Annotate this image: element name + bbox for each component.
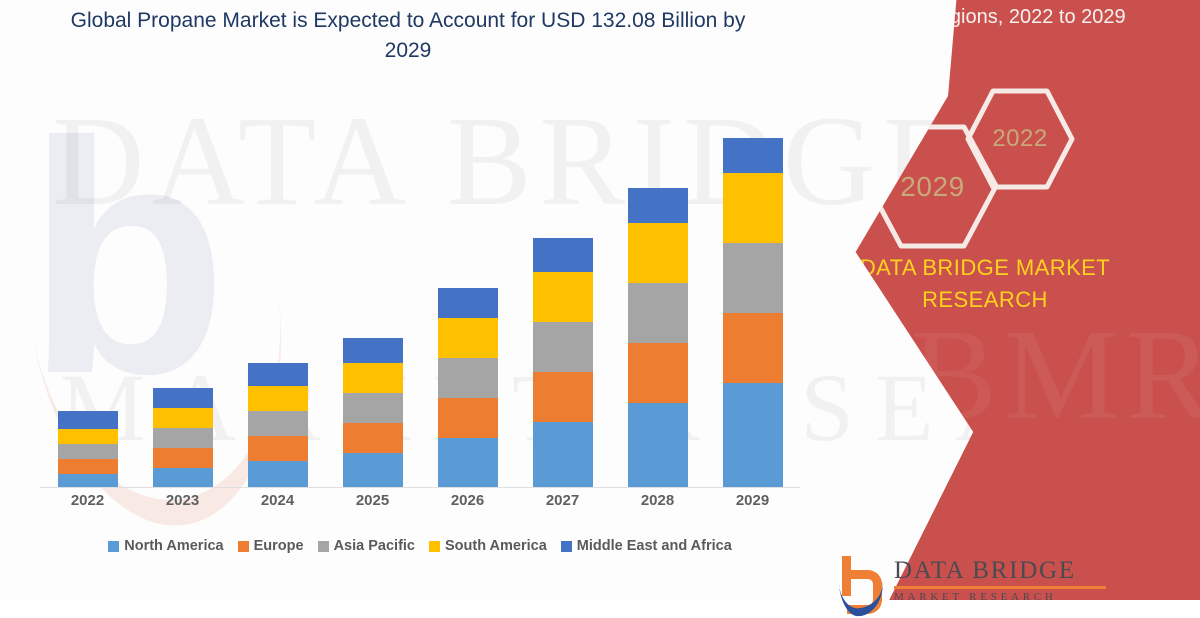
bar-segment	[343, 453, 403, 488]
bar-segment	[628, 403, 688, 488]
bar-2029	[723, 100, 783, 488]
bar-segment	[153, 388, 213, 408]
logo-b-icon	[838, 556, 882, 600]
bar-segment	[533, 372, 593, 422]
bar-segment	[628, 343, 688, 403]
hexagon-2029-label: 2029	[865, 124, 1000, 249]
bar-2023	[153, 100, 213, 488]
bar-segment	[723, 243, 783, 313]
chart-legend: North AmericaEuropeAsia PacificSouth Ame…	[40, 538, 800, 554]
bar-segment	[723, 313, 783, 383]
bar-segment	[628, 283, 688, 343]
bar-segment	[438, 358, 498, 398]
bar-segment	[153, 448, 213, 468]
infographic-root: b DATA BRIDGE MARKET RESEARCH Global Pro…	[0, 0, 1200, 600]
brand-name: DATA BRIDGE MARKET RESEARCH	[780, 252, 1190, 316]
x-axis-label-2026: 2026	[438, 492, 498, 509]
legend-label: Asia Pacific	[334, 538, 415, 554]
brand-name-line-2: RESEARCH	[780, 284, 1190, 316]
x-axis-label-2027: 2027	[533, 492, 593, 509]
company-logo: DATA BRIDGE MARKET RESEARCH	[838, 556, 1198, 600]
bar-segment	[438, 288, 498, 318]
bar-segment	[58, 459, 118, 474]
bar-segment	[723, 138, 783, 173]
bar-segment	[248, 461, 308, 488]
legend-swatch-icon	[108, 541, 119, 552]
chart-title: Global Propane Market is Expected to Acc…	[70, 6, 746, 66]
bar-segment	[248, 436, 308, 461]
bar-group	[40, 100, 800, 488]
logo-swoosh-icon	[839, 581, 885, 618]
hexagon-2029: 2029	[865, 124, 1000, 249]
plot-area	[40, 100, 800, 488]
legend-swatch-icon	[429, 541, 440, 552]
logo-title: DATA BRIDGE	[894, 558, 1106, 584]
bar-2024	[248, 100, 308, 488]
bar-segment	[248, 363, 308, 386]
legend-item-asia-pacific[interactable]: Asia Pacific	[318, 538, 415, 554]
bar-segment	[628, 188, 688, 223]
bar-segment	[343, 338, 403, 363]
x-axis-label-2025: 2025	[343, 492, 403, 509]
bar-segment	[438, 398, 498, 438]
bar-segment	[723, 383, 783, 488]
bar-segment	[58, 474, 118, 488]
bar-segment	[343, 393, 403, 423]
bar-segment	[533, 422, 593, 488]
bar-segment	[343, 423, 403, 453]
bar-segment	[248, 411, 308, 436]
hexagon-group: 2022 2029	[780, 88, 1200, 258]
x-axis-labels: 20222023202420252026202720282029	[40, 492, 800, 509]
bar-segment	[438, 438, 498, 488]
brand-name-line-1: DATA BRIDGE MARKET	[780, 252, 1190, 284]
legend-swatch-icon	[318, 541, 329, 552]
legend-label: Europe	[254, 538, 304, 554]
legend-label: South America	[445, 538, 547, 554]
x-axis-label-2024: 2024	[248, 492, 308, 509]
x-axis-label-2028: 2028	[628, 492, 688, 509]
brand-ghost-watermark: DBMR	[810, 300, 1200, 450]
legend-item-middle-east-and-africa[interactable]: Middle East and Africa	[561, 538, 732, 554]
bar-segment	[533, 238, 593, 272]
legend-swatch-icon	[561, 541, 572, 552]
logo-text: DATA BRIDGE MARKET RESEARCH	[894, 556, 1106, 603]
x-axis-label-2029: 2029	[723, 492, 783, 509]
bar-segment	[533, 272, 593, 322]
legend-item-south-america[interactable]: South America	[429, 538, 547, 554]
bar-segment	[248, 386, 308, 411]
bar-segment	[153, 408, 213, 428]
x-axis-line	[40, 487, 800, 488]
bar-segment	[723, 173, 783, 243]
bar-2028	[628, 100, 688, 488]
x-axis-label-2022: 2022	[58, 492, 118, 509]
bar-2027	[533, 100, 593, 488]
bar-segment	[58, 411, 118, 429]
bar-segment	[343, 363, 403, 393]
bar-2022	[58, 100, 118, 488]
logo-subtitle: MARKET RESEARCH	[894, 591, 1106, 603]
bar-segment	[628, 223, 688, 283]
brand-subtitle: Regions, 2022 to 2029	[850, 6, 1200, 29]
legend-label: North America	[124, 538, 223, 554]
x-axis-label-2023: 2023	[153, 492, 213, 509]
bar-segment	[58, 444, 118, 459]
bar-2026	[438, 100, 498, 488]
legend-item-north-america[interactable]: North America	[108, 538, 223, 554]
legend-label: Middle East and Africa	[577, 538, 732, 554]
bar-segment	[58, 429, 118, 444]
bar-segment	[153, 428, 213, 448]
bar-segment	[153, 468, 213, 488]
bar-segment	[533, 322, 593, 372]
brand-panel: DBMR Regions, 2022 to 2029 2022 2029 DAT…	[780, 0, 1200, 600]
logo-divider	[894, 586, 1106, 589]
legend-item-europe[interactable]: Europe	[238, 538, 304, 554]
legend-swatch-icon	[238, 541, 249, 552]
bar-segment	[438, 318, 498, 358]
bar-2025	[343, 100, 403, 488]
